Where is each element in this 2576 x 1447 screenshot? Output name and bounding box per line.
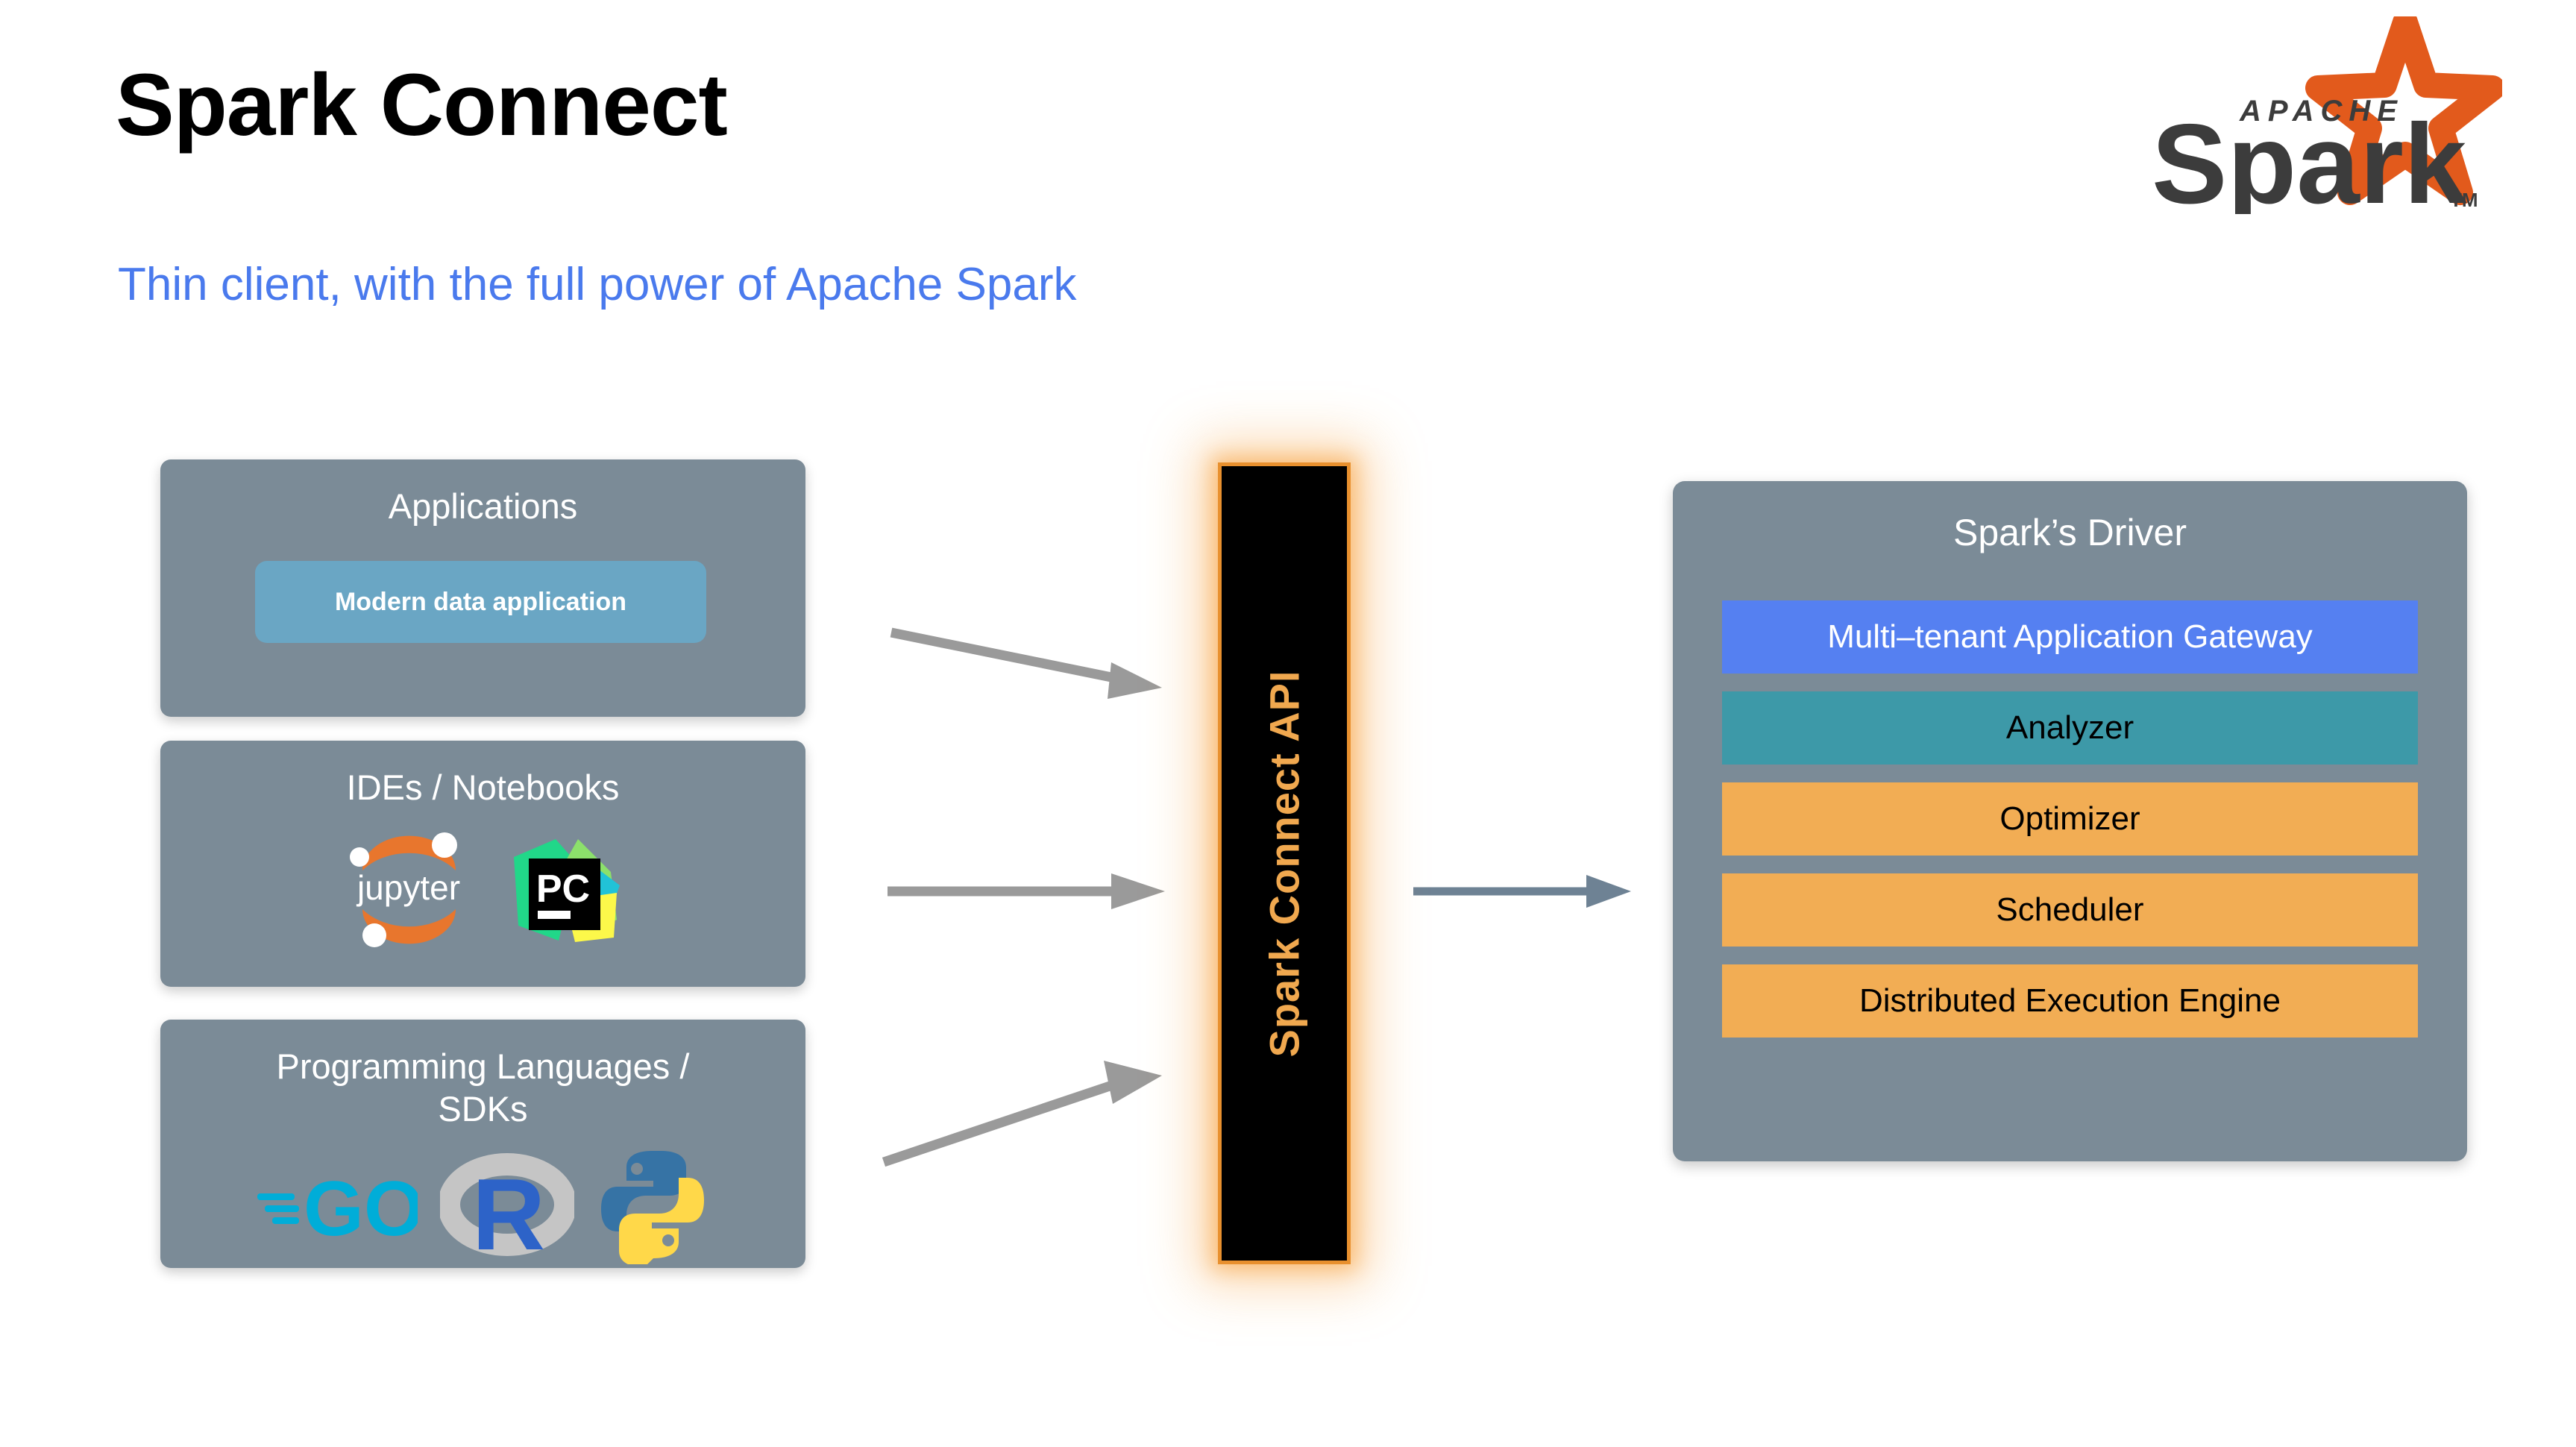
r-logo: R xyxy=(440,1145,574,1264)
panel-ides-notebooks[interactable]: IDEs / Notebooks jupyter xyxy=(160,741,805,987)
pycharm-pc-text: PC xyxy=(536,867,590,911)
languages-logo-row: GO R xyxy=(160,1145,805,1264)
driver-row-optimizer[interactable]: Optimizer xyxy=(1722,782,2418,856)
spark-connect-api-label: Spark Connect API xyxy=(1260,670,1309,1057)
logo-trademark-text: TM xyxy=(2450,189,2478,211)
slide-canvas: Spark Connect Thin client, with the full… xyxy=(0,0,2576,1447)
apache-spark-logo: APACHE Spark TM xyxy=(2129,16,2502,214)
r-letter: R xyxy=(472,1158,545,1264)
driver-row-list: Multi–tenant Application Gateway Analyze… xyxy=(1722,600,2418,1038)
panel-languages-title-line1: Programming Languages / xyxy=(160,1045,805,1087)
arrow-languages-to-api xyxy=(880,1052,1178,1171)
panel-applications[interactable]: Applications Modern data application xyxy=(160,459,805,717)
driver-row-execution-engine[interactable]: Distributed Execution Engine xyxy=(1722,964,2418,1038)
driver-row-analyzer-label: Analyzer xyxy=(2006,709,2134,747)
pycharm-logo: PC xyxy=(506,829,626,948)
panel-spark-driver[interactable]: Spark’s Driver Multi–tenant Application … xyxy=(1673,481,2467,1161)
driver-row-gateway[interactable]: Multi–tenant Application Gateway xyxy=(1722,600,2418,674)
driver-row-gateway-label: Multi–tenant Application Gateway xyxy=(1827,618,2313,656)
jupyter-wordmark: jupyter xyxy=(356,868,460,907)
driver-row-scheduler[interactable]: Scheduler xyxy=(1722,873,2418,947)
go-logo: GO xyxy=(257,1164,418,1246)
driver-row-scheduler-label: Scheduler xyxy=(1996,891,2143,929)
arrow-ides-to-api xyxy=(888,861,1171,921)
ides-logo-row: jupyter PC xyxy=(160,829,805,948)
logo-spark-text: Spark xyxy=(2152,101,2467,214)
panel-applications-title: Applications xyxy=(160,459,805,527)
driver-row-optimizer-label: Optimizer xyxy=(1999,800,2140,838)
spark-driver-title: Spark’s Driver xyxy=(1673,481,2467,554)
panel-languages-title-line2: SDKs xyxy=(160,1087,805,1130)
spark-connect-api-bar[interactable]: Spark Connect API xyxy=(1218,462,1351,1264)
panel-programming-languages-title: Programming Languages / SDKs xyxy=(160,1020,805,1131)
panel-ides-notebooks-title: IDEs / Notebooks xyxy=(160,741,805,809)
go-wordmark: GO xyxy=(304,1166,418,1246)
modern-data-application-label: Modern data application xyxy=(335,588,626,617)
python-logo xyxy=(597,1145,709,1264)
arrow-applications-to-api xyxy=(888,619,1171,723)
arrow-api-to-driver xyxy=(1413,861,1637,921)
jupyter-logo: jupyter xyxy=(340,829,478,948)
page-title: Spark Connect xyxy=(116,60,727,152)
page-subtitle: Thin client, with the full power of Apac… xyxy=(118,260,1076,310)
driver-row-execution-engine-label: Distributed Execution Engine xyxy=(1859,982,2281,1020)
modern-data-application-card[interactable]: Modern data application xyxy=(255,561,706,643)
panel-programming-languages[interactable]: Programming Languages / SDKs GO xyxy=(160,1020,805,1268)
driver-row-analyzer[interactable]: Analyzer xyxy=(1722,691,2418,765)
